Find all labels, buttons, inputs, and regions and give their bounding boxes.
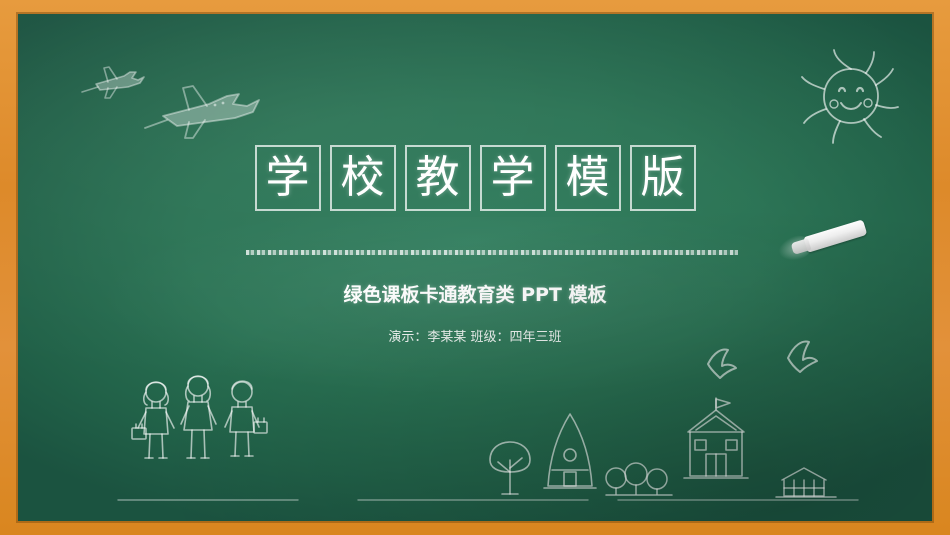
tree-icon [482,438,538,496]
title-char-4: 学 [480,145,546,211]
chalk-body [803,219,867,252]
pencil-house-icon [538,410,602,496]
chalkboard: 学 校 教 学 模 版 绿色课板卡通教育类 PPT 模板 演示：李某某 班级：四… [18,14,932,521]
title-char-2: 校 [330,145,396,211]
students-group-icon [126,372,276,492]
chalk-underline [246,250,738,255]
title-character-boxes: 学 校 教 学 模 版 [255,145,696,211]
presentation-slide: 学 校 教 学 模 版 绿色课板卡通教育类 PPT 模板 演示：李某某 班级：四… [0,0,950,535]
subtitle: 绿色课板卡通教育类 PPT 模板 [18,280,932,307]
page-title: 学 校 教 学 模 版 [18,145,932,211]
bird-left-icon [702,344,742,380]
ground-line [118,496,858,504]
chalk-stick-icon [790,219,868,258]
title-char-3: 教 [405,145,471,211]
title-char-5: 模 [555,145,621,211]
title-char-6: 版 [630,145,696,211]
presenter-info: 演示：李某某 班级：四年三班 [18,326,932,345]
schoolhouse-icon [666,396,766,496]
sun-face-icon [794,47,900,147]
title-char-1: 学 [255,145,321,211]
airplane-large-icon [143,72,273,142]
